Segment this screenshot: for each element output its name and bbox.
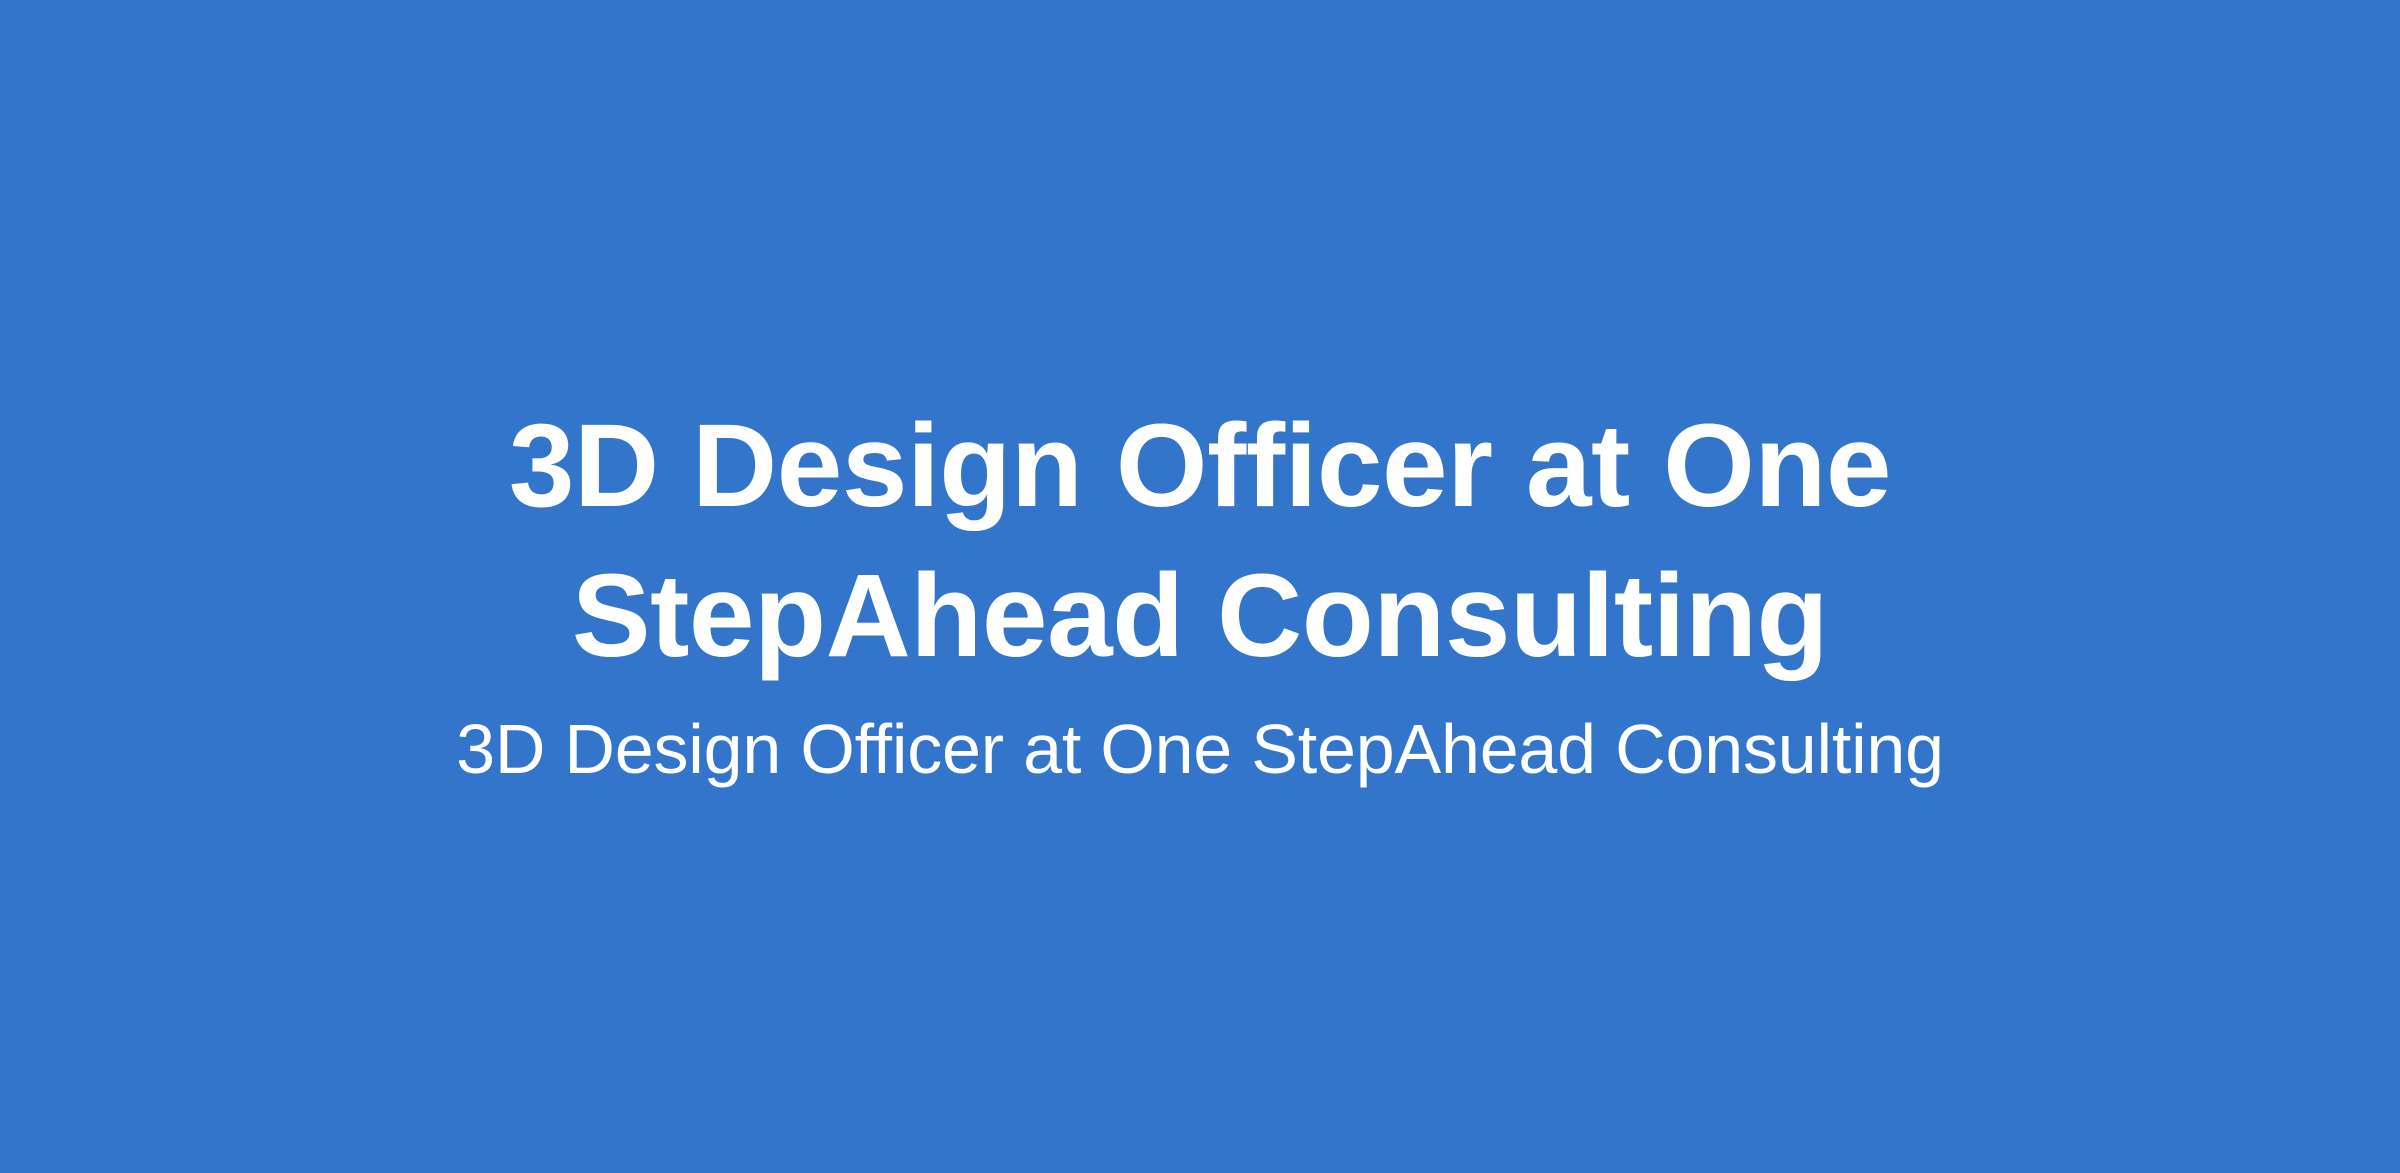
job-posting-banner: 3D Design Officer at One StepAhead Consu… [0, 0, 2400, 1173]
page-subtitle: 3D Design Officer at One StepAhead Consu… [320, 691, 2080, 791]
page-title: 3D Design Officer at One StepAhead Consu… [320, 391, 2080, 691]
banner-content: 3D Design Officer at One StepAhead Consu… [320, 391, 2080, 791]
